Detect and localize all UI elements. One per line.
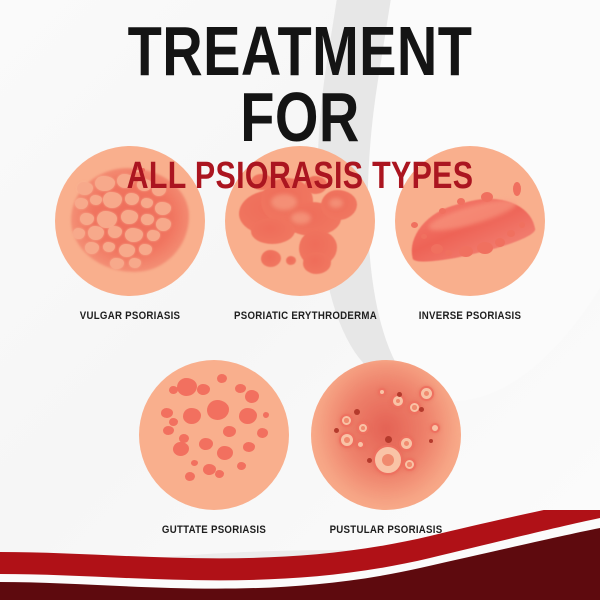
skin-pustule-rings-icon xyxy=(311,360,461,510)
poster-header: TREATMENT FOR ALL PSIORASIS TYPES xyxy=(0,0,600,196)
type-caption: INVERSE PSORIASIS xyxy=(404,310,536,322)
page-subtitle: ALL PSIORASIS TYPES xyxy=(60,156,540,196)
skin-drop-spots-icon xyxy=(139,360,289,510)
poster-canvas: TREATMENT FOR ALL PSIORASIS TYPES xyxy=(0,0,600,600)
bottom-wave-decoration xyxy=(0,510,600,600)
page-title: TREATMENT FOR xyxy=(60,18,540,150)
type-caption: PSORIATIC ERYTHRODERMA xyxy=(234,310,366,322)
type-caption: VULGAR PSORIASIS xyxy=(64,310,196,322)
